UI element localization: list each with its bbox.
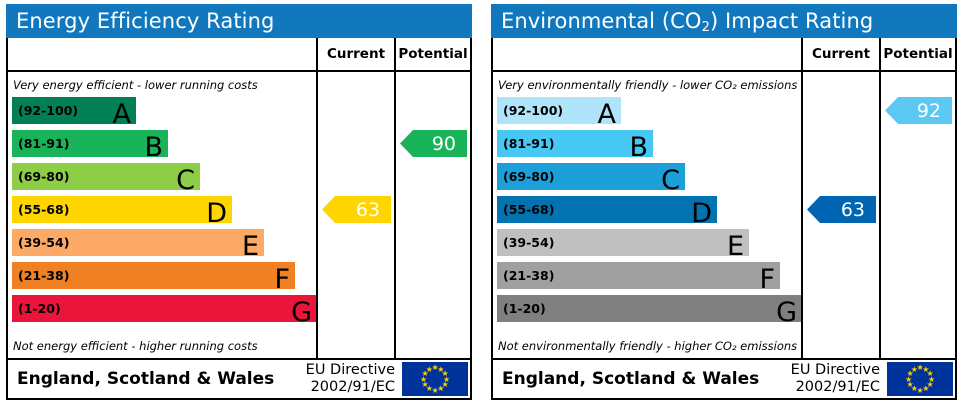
header-current: Current (316, 38, 394, 70)
eu-flag-icon: ★★★★★★★★★★★★ (887, 362, 953, 396)
band-letter: C (661, 167, 680, 194)
chart-frame-co2: Current Potential Very environmentally f… (491, 38, 957, 400)
caption-bottom-energy: Not energy efficient - higher running co… (13, 339, 258, 353)
header-potential: Potential (394, 38, 470, 70)
band-g: (1-20) G (12, 295, 317, 322)
band-d: (55-68) D (12, 196, 232, 223)
directive-line-2: 2002/91/EC (306, 379, 395, 396)
band-f: (21-38) F (497, 262, 780, 289)
band-range: (69-80) (12, 169, 69, 184)
footer-directive: EU Directive 2002/91/EC (791, 362, 887, 396)
caption-bottom-co2: Not environmentally friendly - higher CO… (498, 339, 797, 353)
band-letter: F (274, 266, 290, 293)
current-rating-arrow-co2: 63 (807, 196, 876, 223)
band-range: (55-68) (12, 202, 69, 217)
co2-impact-chart: Environmental (CO2) Impact Rating Curren… (491, 4, 957, 400)
footer-co2: England, Scotland & Wales EU Directive 2… (493, 360, 955, 398)
band-b: (81-91) B (497, 130, 653, 157)
band-range: (92-100) (497, 103, 563, 118)
eu-flag-icon: ★★★★★★★★★★★★ (402, 362, 468, 396)
footer-region-label: England, Scotland & Wales (493, 369, 791, 389)
directive-line-2: 2002/91/EC (791, 379, 880, 396)
band-e: (39-54) E (497, 229, 749, 256)
potential-rating-arrow-energy: 90 (400, 130, 467, 157)
table-header-row: Current Potential (8, 38, 470, 72)
header-potential: Potential (879, 38, 955, 70)
chart-body-energy: Very energy efficient - lower running co… (8, 72, 470, 360)
potential-column-energy: 90 (394, 72, 470, 358)
band-range: (1-20) (497, 301, 546, 316)
band-a: (92-100) A (497, 97, 621, 124)
current-column-co2: 63 (801, 72, 879, 358)
footer-energy: England, Scotland & Wales EU Directive 2… (8, 360, 470, 398)
footer-region-label: England, Scotland & Wales (8, 369, 306, 389)
band-c: (69-80) C (12, 163, 200, 190)
band-letter: C (176, 167, 195, 194)
band-list-co2: Very environmentally friendly - lower CO… (493, 72, 801, 358)
band-range: (92-100) (12, 103, 78, 118)
band-range: (21-38) (497, 268, 554, 283)
band-range: (69-80) (497, 169, 554, 184)
energy-efficiency-chart: Energy Efficiency Rating Current Potenti… (6, 4, 472, 400)
header-current: Current (801, 38, 879, 70)
band-letter: A (113, 101, 131, 128)
band-letter: D (206, 200, 227, 227)
band-list-energy: Very energy efficient - lower running co… (8, 72, 316, 358)
potential-rating-arrow-co2: 92 (885, 97, 952, 124)
band-letter: B (144, 134, 163, 161)
band-c: (69-80) C (497, 163, 685, 190)
directive-line-1: EU Directive (306, 362, 395, 379)
band-letter: F (759, 266, 775, 293)
band-range: (21-38) (12, 268, 69, 283)
potential-column-co2: 92 (879, 72, 955, 358)
table-header-row: Current Potential (493, 38, 955, 72)
header-spacer-cell (493, 38, 801, 70)
band-g: (1-20) G (497, 295, 802, 322)
chart-title-text: Energy Efficiency Rating (16, 9, 274, 33)
epc-charts-page: Energy Efficiency Rating Current Potenti… (0, 0, 957, 404)
band-a: (92-100) A (12, 97, 136, 124)
band-f: (21-38) F (12, 262, 295, 289)
band-range: (81-91) (12, 136, 69, 151)
chart-frame-energy: Current Potential Very energy efficient … (6, 38, 472, 400)
band-e: (39-54) E (12, 229, 264, 256)
band-b: (81-91) B (12, 130, 168, 157)
band-range: (55-68) (497, 202, 554, 217)
band-range: (1-20) (12, 301, 61, 316)
footer-directive: EU Directive 2002/91/EC (306, 362, 402, 396)
band-letter: G (291, 299, 312, 326)
eu-flag-star: ★ (911, 366, 918, 373)
chart-body-co2: Very environmentally friendly - lower CO… (493, 72, 955, 360)
band-letter: B (629, 134, 648, 161)
current-rating-arrow-energy: 63 (322, 196, 391, 223)
chart-title-co2: Environmental (CO2) Impact Rating (491, 4, 957, 38)
band-letter: E (242, 233, 259, 260)
band-range: (39-54) (12, 235, 69, 250)
band-letter: G (776, 299, 797, 326)
current-column-energy: 63 (316, 72, 394, 358)
chart-title-tail: ) Impact Rating (710, 9, 873, 33)
chart-title-subscript: 2 (702, 20, 710, 35)
eu-flag-star: ★ (426, 366, 433, 373)
band-letter: E (727, 233, 744, 260)
chart-title-text: Environmental (CO (501, 9, 702, 33)
chart-title-energy: Energy Efficiency Rating (6, 4, 472, 38)
caption-top-energy: Very energy efficient - lower running co… (13, 78, 258, 92)
directive-line-1: EU Directive (791, 362, 880, 379)
caption-top-co2: Very environmentally friendly - lower CO… (498, 78, 797, 92)
band-range: (39-54) (497, 235, 554, 250)
band-range: (81-91) (497, 136, 554, 151)
header-spacer-cell (8, 38, 316, 70)
band-letter: A (598, 101, 616, 128)
band-d: (55-68) D (497, 196, 717, 223)
band-letter: D (691, 200, 712, 227)
